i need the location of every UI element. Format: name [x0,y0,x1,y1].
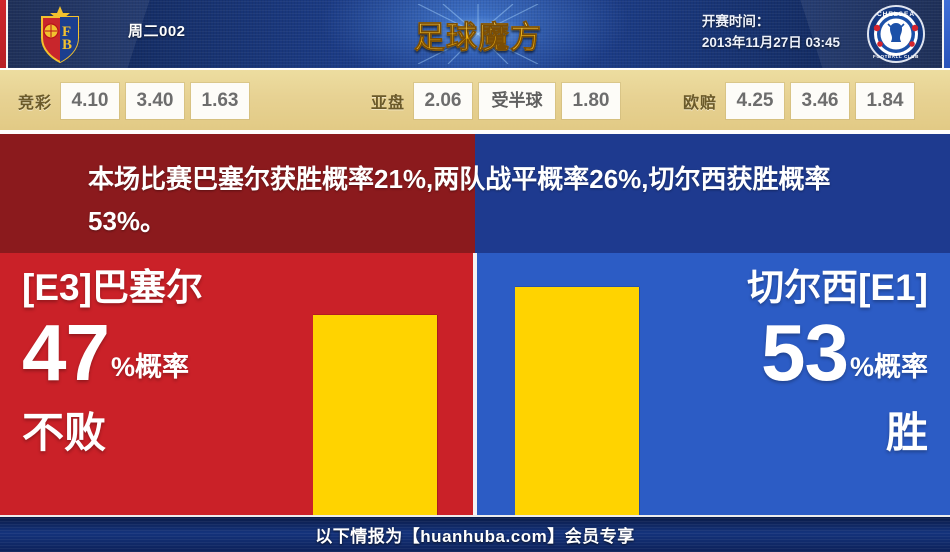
odds-cell[interactable]: 3.46 [791,83,849,119]
away-team-name: 切尔西[E1] [747,263,928,313]
odds-bar: 竞彩 4.10 3.40 1.63 亚盘 2.06 受半球 1.80 欧赔 4.… [0,68,950,130]
away-percent-row: 53 %概率 [747,315,928,391]
site-logo: 足球魔方 [398,4,558,64]
odds-cell[interactable]: 2.06 [414,83,472,119]
away-outcome-label: 胜 [747,405,928,461]
bar-away [515,287,639,515]
home-percent-row: 47 %概率 [22,315,203,391]
match-header: F B 周二002 足球魔方 开赛时间： 2013年11月27日 03:45 [0,0,950,68]
kickoff-label: 开赛时间： [702,11,840,32]
svg-text:CHELSEA: CHELSEA [877,11,915,18]
bar-home [313,315,437,515]
header-right-blue-strip [942,0,950,68]
odds-group-label: 亚盘 [371,89,405,113]
infographic-root: F B 周二002 足球魔方 开赛时间： 2013年11月27日 03:45 [0,0,950,552]
odds-cell[interactable]: 3.40 [126,83,184,119]
home-outcome-label: 不败 [22,405,203,461]
odds-cell[interactable]: 1.63 [191,83,249,119]
odds-cell[interactable]: 4.10 [61,83,119,119]
odds-group-label: 欧赔 [683,89,717,113]
away-percent-suffix: %概率 [850,350,928,391]
probability-summary-text: 本场比赛巴塞尔获胜概率21%,两队战平概率26%,切尔西获胜概率53%。 [88,158,878,242]
odds-cell[interactable]: 1.80 [562,83,620,119]
odds-group-jingcai: 竞彩 4.10 3.40 1.63 [18,70,249,132]
odds-group-label: 竞彩 [18,89,52,113]
kickoff-value: 2013年11月27日 03:45 [702,32,840,53]
home-team-block: [E3]巴塞尔 47 %概率 不败 [22,263,203,461]
probability-chart: [E3]巴塞尔 47 %概率 不败 切尔西[E1] 53 %概率 胜 [0,253,950,515]
site-logo-text: 足球魔方 [414,12,542,57]
member-notice-footer: 以下情报为【huanhuba.com】会员专享 [0,515,950,552]
basel-crest-icon: F B [30,4,90,64]
member-notice-text: 以下情报为【huanhuba.com】会员专享 [315,522,634,547]
kickoff-time: 开赛时间： 2013年11月27日 03:45 [702,11,840,53]
away-team-block: 切尔西[E1] 53 %概率 胜 [747,263,928,461]
odds-cell[interactable]: 1.84 [856,83,914,119]
home-team-name: [E3]巴塞尔 [22,263,203,313]
probability-banner: 本场比赛巴塞尔获胜概率21%,两队战平概率26%,切尔西获胜概率53%。 [0,130,950,253]
home-percent-value: 47 [22,315,109,391]
home-percent-suffix: %概率 [111,350,189,391]
odds-group-yapan: 亚盘 2.06 受半球 1.80 [371,70,620,132]
odds-group-oupei: 欧赔 4.25 3.46 1.84 [683,70,914,132]
svg-text:FOOTBALL CLUB: FOOTBALL CLUB [873,54,919,59]
odds-cell-handicap[interactable]: 受半球 [479,83,555,119]
svg-text:B: B [62,37,72,53]
away-percent-value: 53 [761,315,848,391]
odds-cell[interactable]: 4.25 [726,83,784,119]
match-number: 周二002 [128,20,186,41]
chelsea-crest-icon: CHELSEA FOOTBALL CLUB [866,4,926,64]
header-left-red-strip [0,0,8,68]
